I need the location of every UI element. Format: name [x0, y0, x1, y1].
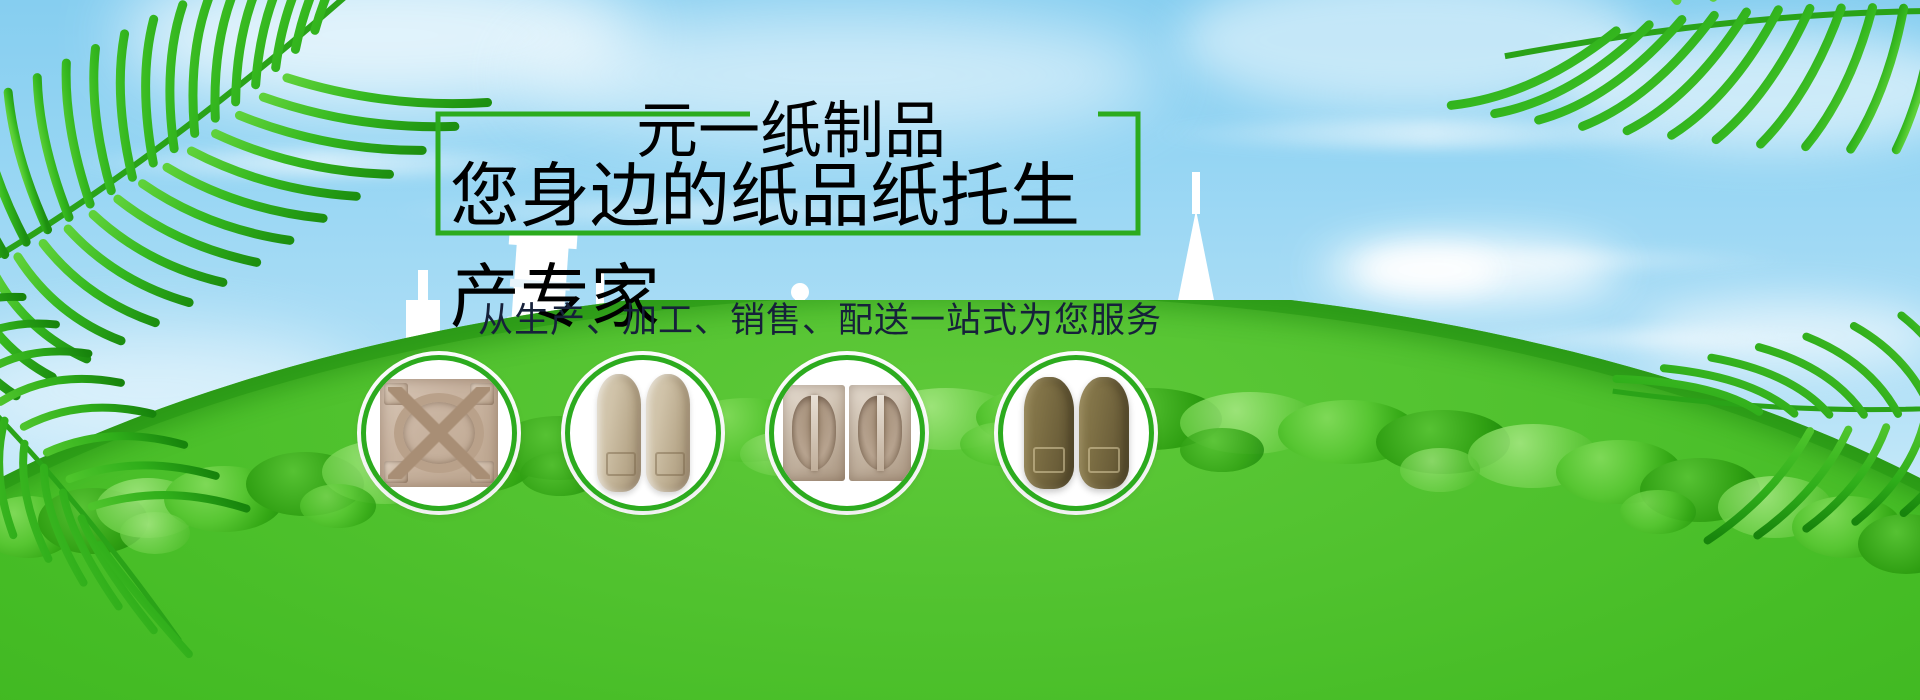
promotional-banner: 元一纸制品 您身边的纸品纸托生产专家 从生产、加工、销售、配送一站式为您服务 — [0, 0, 1920, 700]
pulp-tray-dual-image — [783, 385, 911, 481]
shoe-tree-light-image — [597, 374, 690, 492]
subtitle-text: 从生产、加工、销售、配送一站式为您服务 — [478, 292, 1098, 343]
product-circle-shoe-tree-light[interactable] — [565, 355, 721, 511]
pulp-tray-square-image — [380, 379, 498, 487]
headline-block: 元一纸制品 您身边的纸品纸托生产专家 — [432, 88, 1144, 236]
product-circle-shoe-tree-dark[interactable] — [998, 355, 1154, 511]
product-circle-pulp-tray-square[interactable] — [361, 355, 517, 511]
product-circle-pulp-tray-dual[interactable] — [769, 355, 925, 511]
shoe-tree-dark-image — [1024, 377, 1129, 489]
